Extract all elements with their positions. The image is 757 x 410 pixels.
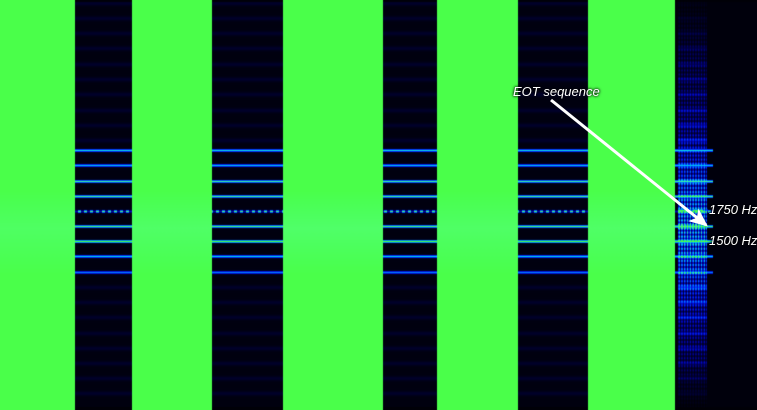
eot-sequence-label: EOT sequence [513,84,600,99]
frequency-label-1750hz: 1750 Hz [709,202,757,217]
frequency-label-1500hz: 1500 Hz [709,233,757,248]
spectrogram-canvas [0,0,757,410]
spectrogram-viewer: EOT sequence 1750 Hz 1500 Hz [0,0,757,410]
